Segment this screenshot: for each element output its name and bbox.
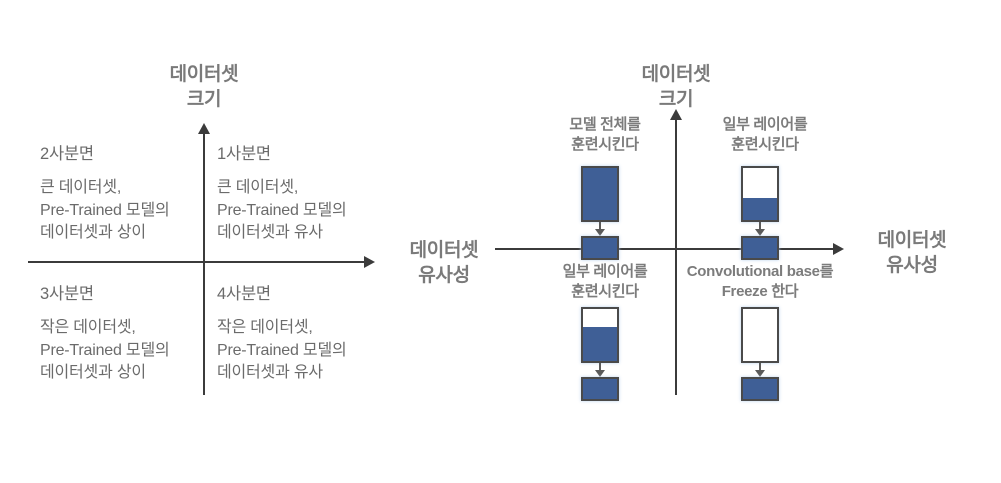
right-quadrant-4-caption: Convolutional base를 Freeze 한다 — [665, 262, 855, 302]
right-y-axis-line — [675, 119, 677, 395]
right-x-axis-title: 데이터셋 유사성 — [852, 228, 972, 278]
classifier-head-box-q2 — [581, 236, 619, 260]
stack-connector-arrow-q4 — [755, 370, 765, 377]
right-y-axis-title: 데이터셋 크기 — [600, 62, 752, 112]
right-x-axis-arrow — [833, 243, 844, 255]
stack-connector-arrow-q1 — [755, 229, 765, 236]
stack-connector-arrow-q3 — [595, 370, 605, 377]
trainable-fill-q3 — [583, 327, 617, 361]
diagram-canvas: 데이터셋 크기 데이터셋 유사성 2사분면 큰 데이터셋, Pre-Traine… — [0, 0, 1001, 483]
pretrained-base-box-q2 — [581, 166, 619, 222]
classifier-head-box-q4 — [741, 377, 779, 401]
right-x-axis-line — [495, 248, 835, 250]
pretrained-base-box-q4 — [741, 307, 779, 363]
right-quadrant-1-caption: 일부 레이어를 훈련시킨다 — [670, 115, 860, 155]
classifier-head-box-q3 — [581, 377, 619, 401]
stack-connector-arrow-q2 — [595, 229, 605, 236]
trainable-fill-q1 — [743, 198, 777, 220]
classifier-head-box-q1 — [741, 236, 779, 260]
trainable-fill-q2 — [583, 168, 617, 220]
pretrained-base-box-q1 — [741, 166, 779, 222]
pretrained-base-box-q3 — [581, 307, 619, 363]
right-strategy-chart: 데이터셋 크기 데이터셋 유사성 모델 전체를 훈련시킨다 일부 레이어를 훈련… — [0, 0, 1001, 483]
